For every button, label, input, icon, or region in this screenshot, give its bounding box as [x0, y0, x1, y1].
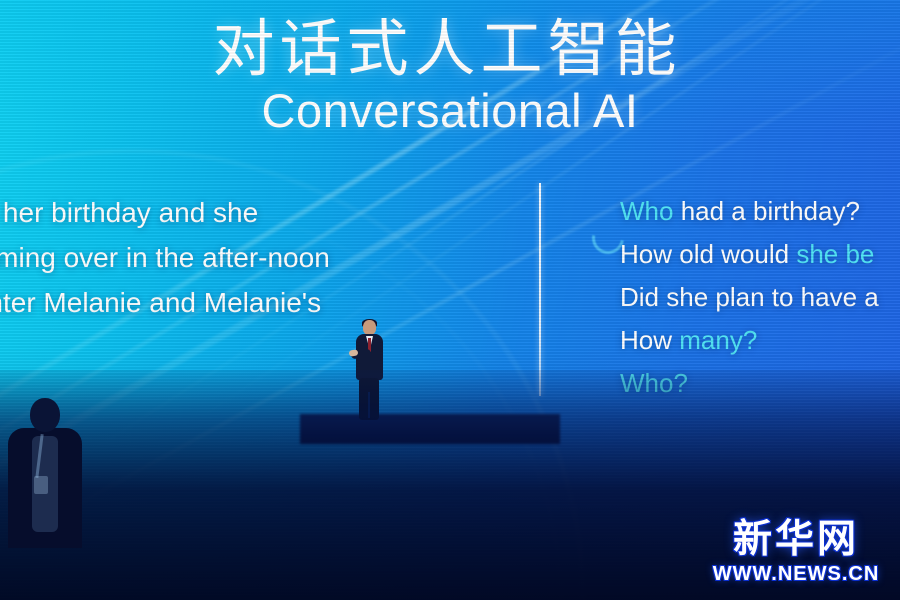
question-text: How old would: [620, 239, 796, 269]
transcript-line: was coming over in the after-noon: [0, 235, 508, 280]
question-text: How: [620, 325, 679, 355]
question-line: How many?: [620, 319, 900, 362]
presenter-head: [363, 320, 376, 335]
slide-title-english: Conversational AI: [0, 86, 900, 137]
question-keyword: Who: [620, 196, 673, 226]
slide-title: 对话式人工智能 Conversational AI: [0, 18, 900, 137]
question-text: had a birthday?: [673, 196, 859, 226]
transcript-line: ay was her birthday and she: [0, 190, 508, 235]
question-line: Did she plan to have a: [620, 276, 900, 319]
transcript-panel: ay was her birthday and she was coming o…: [0, 190, 508, 325]
attendee-with-badge: [8, 398, 80, 548]
watermark-url: WWW.NEWS.CN: [710, 564, 882, 584]
attendee-head: [30, 398, 60, 432]
attendee-badge: [34, 476, 48, 494]
transcript-line: r daughter Melanie and Melanie's: [0, 280, 508, 325]
slide-title-chinese: 对话式人工智能: [0, 18, 900, 82]
question-line: Who had a birthday?: [620, 190, 900, 233]
watermark-logo-chinese: 新华网: [710, 520, 882, 559]
photo-frame: 对话式人工智能 Conversational AI ay was her bir…: [0, 0, 900, 600]
question-text: Did she plan to have a: [620, 282, 879, 312]
question-line: How old would she be: [620, 233, 900, 276]
panel-divider: [539, 183, 541, 396]
question-keyword: she be: [796, 239, 874, 269]
question-keyword: many?: [679, 325, 757, 355]
xinhua-watermark: 新华网 WWW.NEWS.CN: [710, 520, 882, 584]
